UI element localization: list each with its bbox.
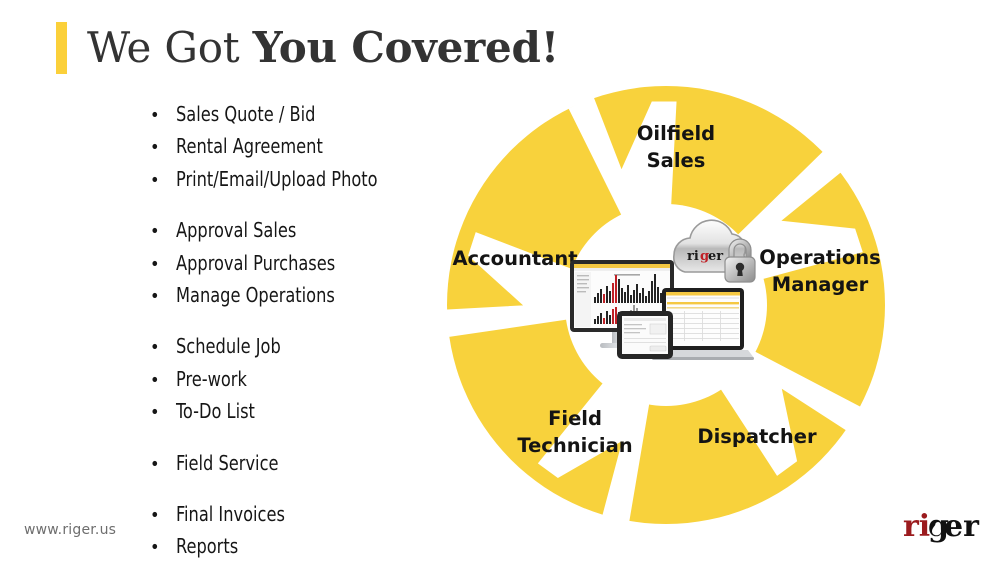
cloud-brand-er: er [708, 249, 723, 264]
bullet-dot-icon: • [150, 133, 176, 163]
bullet-dot-icon: • [150, 501, 176, 531]
cloud-lock-badge: ri g er [674, 220, 755, 282]
bullet-dot-icon: • [150, 366, 176, 396]
bullet-dot-icon: • [150, 101, 176, 131]
segment-label-line: Field [548, 407, 602, 430]
list-item-label: Approval Purchases [176, 248, 335, 278]
footer-logo-svg: ri g er [903, 506, 981, 546]
list-item: • To-Do List [150, 396, 440, 428]
feature-group-5: • Final Invoices • Reports [150, 499, 440, 564]
feature-group-4: • Field Service [150, 448, 440, 480]
bullet-dot-icon: • [150, 533, 176, 563]
bullet-dot-icon: • [150, 450, 176, 480]
feature-group-1: • Sales Quote / Bid • Rental Agreement •… [150, 99, 440, 196]
segment-label-line: Dispatcher [697, 425, 817, 448]
bullet-dot-icon: • [150, 217, 176, 247]
page-title-bold: You Covered! [253, 23, 559, 72]
segment-label-line: Manager [772, 273, 869, 296]
center-device-svg: ri g er [566, 205, 766, 380]
bullet-dot-icon: • [150, 398, 176, 428]
bullet-dot-icon: • [150, 250, 176, 280]
feature-group-3: • Schedule Job • Pre-work • To-Do List [150, 331, 440, 428]
list-item: • Schedule Job [150, 331, 440, 363]
footer-logo-er: er [944, 509, 980, 544]
footer-logo[interactable]: ri g er [903, 506, 981, 546]
footer-url[interactable]: www.riger.us [24, 522, 116, 538]
title-block: We Got You Covered! [56, 18, 559, 78]
list-item: • Manage Operations [150, 280, 440, 312]
segment-label-line: Sales [647, 149, 706, 172]
page-title-light: We Got [87, 23, 253, 72]
list-item-label: Manage Operations [176, 280, 335, 310]
list-item-label: Print/Email/Upload Photo [176, 164, 378, 194]
segment-label-line: Technician [517, 434, 632, 457]
list-item: • Final Invoices [150, 499, 440, 531]
page-title: We Got You Covered! [87, 27, 559, 69]
list-item-label: Field Service [176, 448, 278, 478]
center-device-stage: ri g er [566, 205, 766, 380]
list-item-label: To-Do List [176, 396, 255, 426]
segment-accountant[interactable]: Accountant [452, 247, 577, 270]
list-item-label: Rental Agreement [176, 131, 323, 161]
feature-list: • Sales Quote / Bid • Rental Agreement •… [150, 99, 440, 564]
list-item: • Reports [150, 531, 440, 563]
feature-group-2: • Approval Sales • Approval Purchases • … [150, 215, 440, 312]
title-accent-bar [56, 22, 67, 74]
tablet [617, 311, 673, 359]
list-item: • Rental Agreement [150, 131, 440, 163]
list-item-label: Schedule Job [176, 331, 281, 361]
list-item: • Field Service [150, 448, 440, 480]
bullet-dot-icon: • [150, 333, 176, 363]
list-item: • Approval Purchases [150, 248, 440, 280]
slide-canvas: We Got You Covered! • Sales Quote / Bid … [0, 0, 1000, 564]
bullet-dot-icon: • [150, 282, 176, 312]
segment-label-line: Oilfield [637, 122, 715, 145]
list-item: • Approval Sales [150, 215, 440, 247]
list-item: • Pre-work [150, 364, 440, 396]
list-item-label: Final Invoices [176, 499, 285, 529]
list-item: • Print/Email/Upload Photo [150, 164, 440, 196]
bullet-dot-icon: • [150, 166, 176, 196]
list-item-label: Approval Sales [176, 215, 296, 245]
list-item-label: Reports [176, 531, 238, 561]
cloud-brand-ri: ri [687, 249, 699, 264]
segment-dispatcher[interactable]: Dispatcher [697, 425, 817, 448]
list-item: • Sales Quote / Bid [150, 99, 440, 131]
segment-label-line: Accountant [452, 247, 577, 270]
segment-label-line: Operations [759, 246, 880, 269]
list-item-label: Sales Quote / Bid [176, 99, 315, 129]
footer-logo-ri: ri [903, 509, 930, 544]
list-item-label: Pre-work [176, 364, 247, 394]
